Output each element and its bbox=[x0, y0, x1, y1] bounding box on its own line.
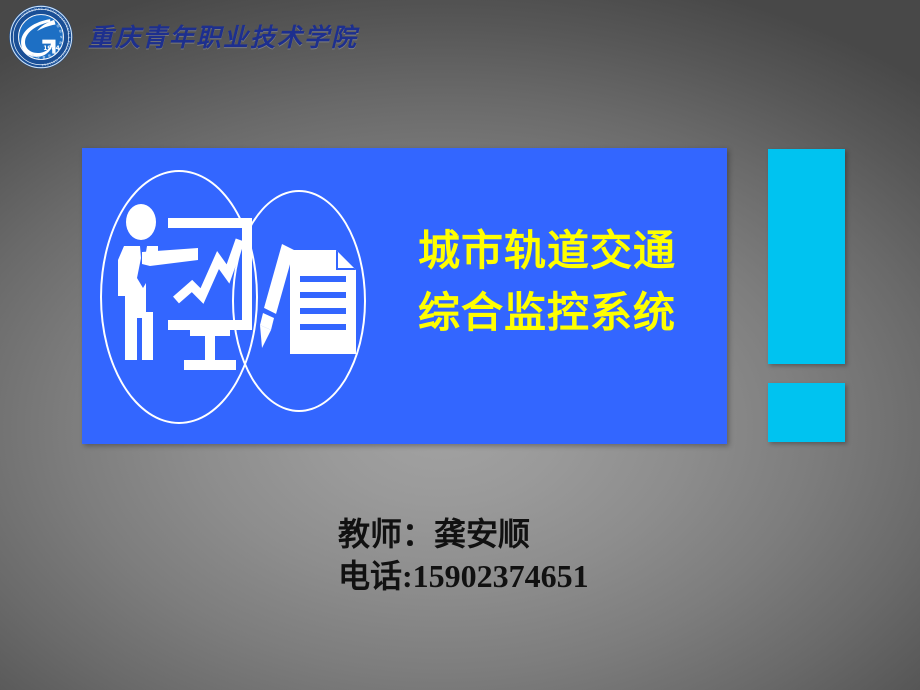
school-name-title: 重庆青年职业技术学院 bbox=[88, 18, 368, 54]
banner-title-line-1: 城市轨道交通 bbox=[418, 220, 718, 282]
presentation-slide: 1984 CHONGQING YOUTH VOCATIONAL & TECHNI… bbox=[0, 0, 920, 690]
school-seal-icon: 1984 CHONGQING YOUTH VOCATIONAL & TECHNI… bbox=[8, 4, 74, 70]
accent-block-tall bbox=[768, 149, 845, 364]
teacher-name-line: 教师：龚安顺 bbox=[338, 513, 758, 555]
presenter-info: 教师：龚安顺 电话:15902374651 bbox=[338, 513, 758, 597]
accent-block-short bbox=[768, 383, 845, 442]
presenter-chart-icon bbox=[110, 200, 258, 390]
slide-header: 1984 CHONGQING YOUTH VOCATIONAL & TECHNI… bbox=[0, 0, 920, 74]
phone-number-line: 电话:15902374651 bbox=[338, 555, 758, 597]
banner-title-line-2: 综合监控系统 bbox=[418, 282, 718, 344]
banner-title: 城市轨道交通 综合监控系统 bbox=[418, 220, 718, 344]
pen-document-icon bbox=[260, 230, 364, 372]
title-banner: 城市轨道交通 综合监控系统 bbox=[82, 148, 727, 444]
